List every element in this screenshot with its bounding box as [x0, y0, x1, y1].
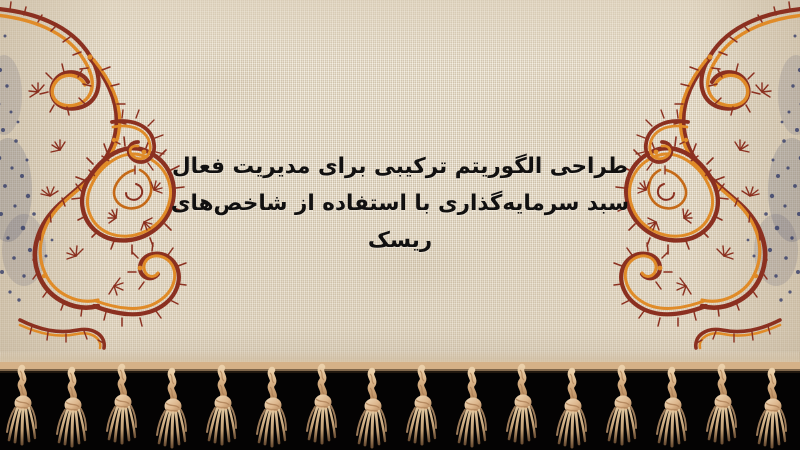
title-line-2: سبد سرمایه‌گذاری با استفاده از شاخص‌های — [150, 185, 650, 222]
title-line-3: ریسک — [150, 222, 650, 259]
black-backdrop — [0, 368, 800, 450]
slide-title: طراحی الگوریتم ترکیبی برای مدیریت فعال س… — [150, 148, 650, 259]
title-slide: طراحی الگوریتم ترکیبی برای مدیریت فعال س… — [0, 0, 800, 450]
title-line-1: طراحی الگوریتم ترکیبی برای مدیریت فعال — [150, 148, 650, 185]
